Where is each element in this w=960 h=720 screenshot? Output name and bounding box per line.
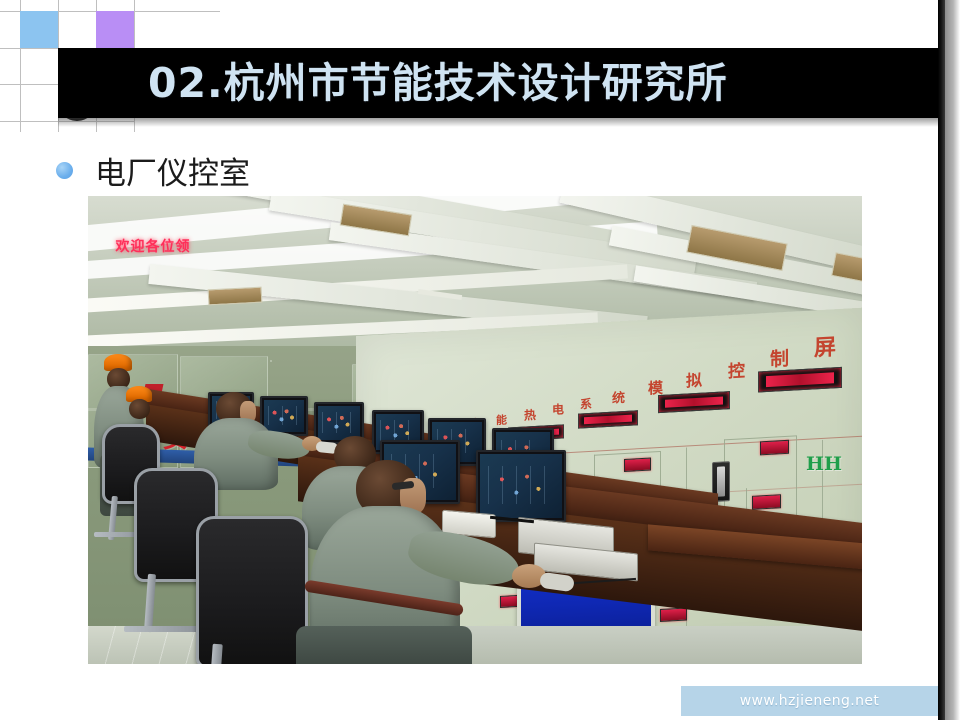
- wall-hh-logo: HH: [806, 453, 842, 475]
- title-bar-shadow: [58, 118, 938, 127]
- page-edge-gray: [945, 0, 960, 720]
- footer-url-text[interactable]: www.hzjieneng.net: [681, 686, 938, 716]
- control-room-photo: 作 业 安 检 杭 州 市 节 能 热 电 系 统 模 拟 控 制: [88, 196, 862, 664]
- welcome-display-text: 欢迎各位领: [92, 236, 214, 256]
- page-title: 02.杭州市节能技术设计研究所: [148, 50, 938, 116]
- deco-square-purple: [96, 11, 134, 48]
- deco-square-blue: [20, 11, 58, 48]
- slide-canvas: 02.杭州市节能技术设计研究所 电厂仪控室 作 业 安 检: [0, 0, 960, 720]
- bullet-dot-icon: [56, 162, 73, 179]
- bullet-row: 电厂仪控室: [56, 148, 250, 193]
- bullet-label: 电厂仪控室: [95, 148, 250, 193]
- page-edge-dark: [938, 0, 945, 720]
